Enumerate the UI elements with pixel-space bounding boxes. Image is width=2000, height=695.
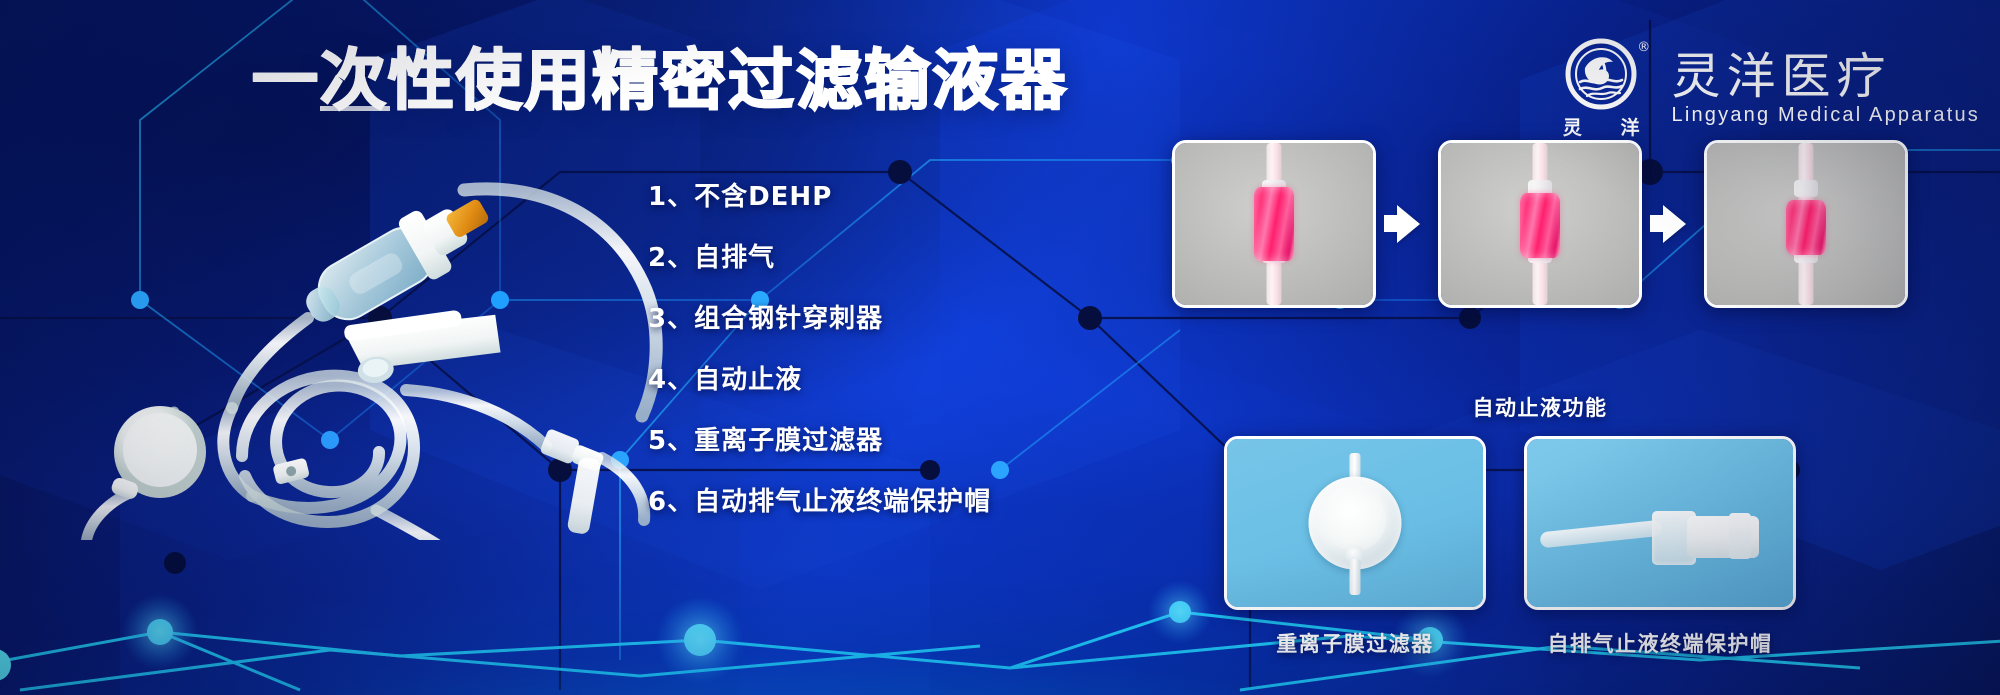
- page-title: 一次性使用精密过滤输液器: [252, 48, 1068, 114]
- feature-item: 3、组合钢针穿刺器: [648, 298, 991, 335]
- sequence-photo-3: [1704, 140, 1908, 308]
- feature-item: 4、自动止液: [648, 359, 991, 396]
- feature-list: 1、不含DEHP 2、自排气 3、组合钢针穿刺器 4、自动止液 5、重离子膜过滤…: [648, 176, 991, 518]
- feature-item: 5、重离子膜过滤器: [648, 420, 991, 457]
- logo-mark: ® 灵 洋: [1547, 38, 1656, 140]
- cap-photo-card: [1524, 436, 1796, 610]
- filter-photo-card: [1224, 436, 1486, 610]
- right-arrow-stem-2: [1650, 215, 1664, 232]
- product-banner: 一次性使用精密过滤输液器 ® 灵 洋 灵洋医疗 Lingyang Medical…: [0, 0, 2000, 695]
- sequence-photo-2: [1438, 140, 1642, 308]
- brand-name-cn: 灵洋医疗: [1672, 51, 1980, 103]
- right-arrow-icon-1: [1397, 205, 1420, 243]
- feature-item: 1、不含DEHP: [648, 176, 991, 213]
- terminal-cap: [567, 456, 602, 535]
- brand-name-en: Lingyang Medical Apparatus: [1672, 104, 1980, 127]
- cap-photo-caption: 自排气止液终端保护帽: [1510, 628, 1810, 658]
- filter-photo-caption: 重离子膜过滤器: [1224, 628, 1486, 658]
- sequence-caption: 自动止液功能: [1172, 392, 1908, 422]
- logo-chinese-small: 灵 洋: [1547, 113, 1656, 140]
- right-arrow-icon-2: [1663, 205, 1686, 243]
- feature-item: 6、自动排气止液终端保护帽: [648, 481, 991, 518]
- product-image: [46, 140, 666, 540]
- sequence-photo-1: [1172, 140, 1376, 308]
- brand-block: ® 灵 洋 灵洋医疗 Lingyang Medical Apparatus: [1547, 38, 1980, 140]
- dolphin-wave-circle-logo-icon: ®: [1565, 38, 1637, 110]
- roller-clamp: [343, 305, 502, 387]
- brand-name-block: 灵洋医疗 Lingyang Medical Apparatus: [1672, 51, 1980, 128]
- feature-item: 2、自排气: [648, 237, 991, 274]
- round-filter-disc: [110, 406, 206, 501]
- registered-trademark-icon: ®: [1637, 40, 1650, 55]
- right-arrow-stem-1: [1384, 215, 1398, 232]
